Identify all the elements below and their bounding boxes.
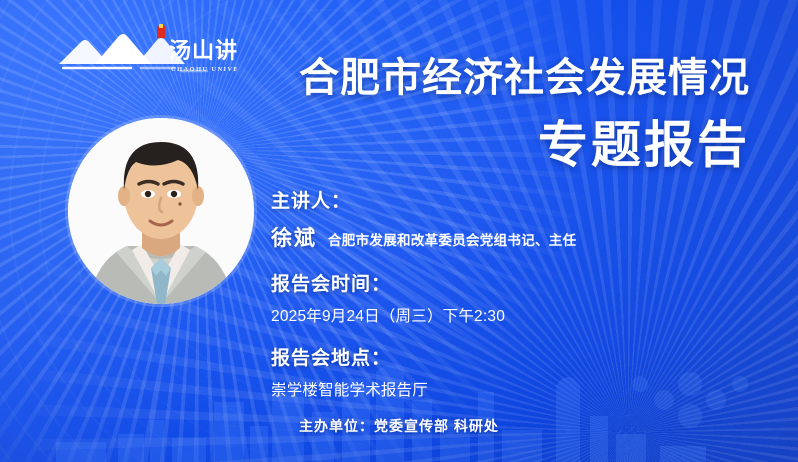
brand-logo: 汤山讲坛 CHAOHU UNIVERSITY (57, 24, 237, 76)
headline-line-1: 合肥市经济社会发展情况 (220, 58, 750, 98)
time-value: 2025年9月24日（周三）下午2:30 (271, 304, 576, 326)
poster-canvas: 汤山讲坛 CHAOHU UNIVERSITY (0, 0, 798, 462)
speaker-title: 合肥市发展和改革委员会党组书记、主任 (328, 229, 576, 249)
time-label: 报告会时间： (271, 269, 576, 296)
place-label: 报告会地点： (271, 343, 576, 370)
page-title: 合肥市经济社会发展情况 专题报告 (220, 58, 750, 170)
speaker-label: 主讲人： (271, 186, 576, 213)
speaker-row: 徐斌 合肥市发展和改革委员会党组书记、主任 (271, 222, 576, 252)
event-details: 主讲人： 徐斌 合肥市发展和改革委员会党组书记、主任 报告会时间： 2025年9… (271, 186, 576, 400)
headline-line-2: 专题报告 (220, 120, 750, 170)
place-value: 崇学楼智能学术报告厅 (271, 378, 576, 400)
flag-top-icon (159, 24, 163, 28)
speaker-name: 徐斌 (271, 222, 317, 252)
organizer-footer: 主办单位：党委宣传部 科研处 (0, 416, 798, 436)
